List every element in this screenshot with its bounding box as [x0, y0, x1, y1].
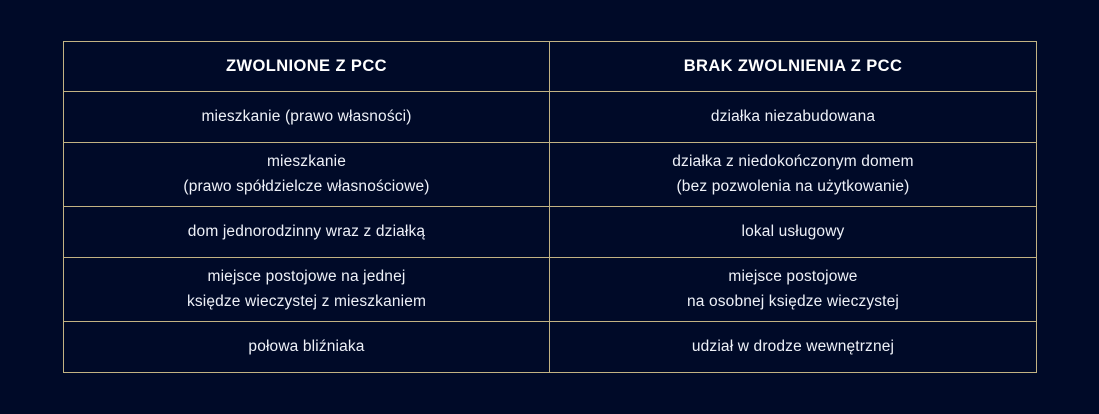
cell-line: (prawo spółdzielcze własnościowe) — [78, 175, 535, 199]
cell-not-exempt: lokal usługowy — [550, 207, 1037, 258]
table-row: połowa bliźniaka udział w drodze wewnętr… — [64, 322, 1037, 373]
pcc-comparison-table: ZWOLNIONE Z PCC BRAK ZWOLNIENIA Z PCC mi… — [63, 41, 1037, 373]
page-root: ZWOLNIONE Z PCC BRAK ZWOLNIENIA Z PCC mi… — [0, 0, 1099, 414]
cell-exempt: mieszkanie (prawo własności) — [64, 92, 550, 143]
cell-not-exempt: udział w drodze wewnętrznej — [550, 322, 1037, 373]
cell-exempt: dom jednorodzinny wraz z działką — [64, 207, 550, 258]
table-header: ZWOLNIONE Z PCC BRAK ZWOLNIENIA Z PCC — [64, 42, 1037, 92]
cell-line: dom jednorodzinny wraz z działką — [78, 220, 535, 244]
table-row: mieszkanie (prawo własności) działka nie… — [64, 92, 1037, 143]
cell-line: działka z niedokończonym domem — [564, 150, 1022, 174]
cell-exempt: połowa bliźniaka — [64, 322, 550, 373]
table-row: dom jednorodzinny wraz z działką lokal u… — [64, 207, 1037, 258]
table-header-row: ZWOLNIONE Z PCC BRAK ZWOLNIENIA Z PCC — [64, 42, 1037, 92]
cell-line: księdze wieczystej z mieszkaniem — [78, 290, 535, 314]
cell-line: mieszkanie (prawo własności) — [78, 105, 535, 129]
cell-not-exempt: miejsce postojowe na osobnej księdze wie… — [550, 258, 1037, 322]
cell-exempt: miejsce postojowe na jednej księdze wiec… — [64, 258, 550, 322]
cell-line: połowa bliźniaka — [78, 335, 535, 359]
cell-line: udział w drodze wewnętrznej — [564, 335, 1022, 359]
cell-not-exempt: działka niezabudowana — [550, 92, 1037, 143]
table-row: miejsce postojowe na jednej księdze wiec… — [64, 258, 1037, 322]
table-body: mieszkanie (prawo własności) działka nie… — [64, 92, 1037, 373]
cell-line: miejsce postojowe — [564, 265, 1022, 289]
column-header-not-exempt: BRAK ZWOLNIENIA Z PCC — [550, 42, 1037, 92]
cell-exempt: mieszkanie (prawo spółdzielcze własności… — [64, 143, 550, 207]
cell-line: działka niezabudowana — [564, 105, 1022, 129]
table-row: mieszkanie (prawo spółdzielcze własności… — [64, 143, 1037, 207]
column-header-exempt: ZWOLNIONE Z PCC — [64, 42, 550, 92]
cell-line: lokal usługowy — [564, 220, 1022, 244]
cell-line: miejsce postojowe na jednej — [78, 265, 535, 289]
cell-line: na osobnej księdze wieczystej — [564, 290, 1022, 314]
cell-line: (bez pozwolenia na użytkowanie) — [564, 175, 1022, 199]
cell-not-exempt: działka z niedokończonym domem (bez pozw… — [550, 143, 1037, 207]
cell-line: mieszkanie — [78, 150, 535, 174]
